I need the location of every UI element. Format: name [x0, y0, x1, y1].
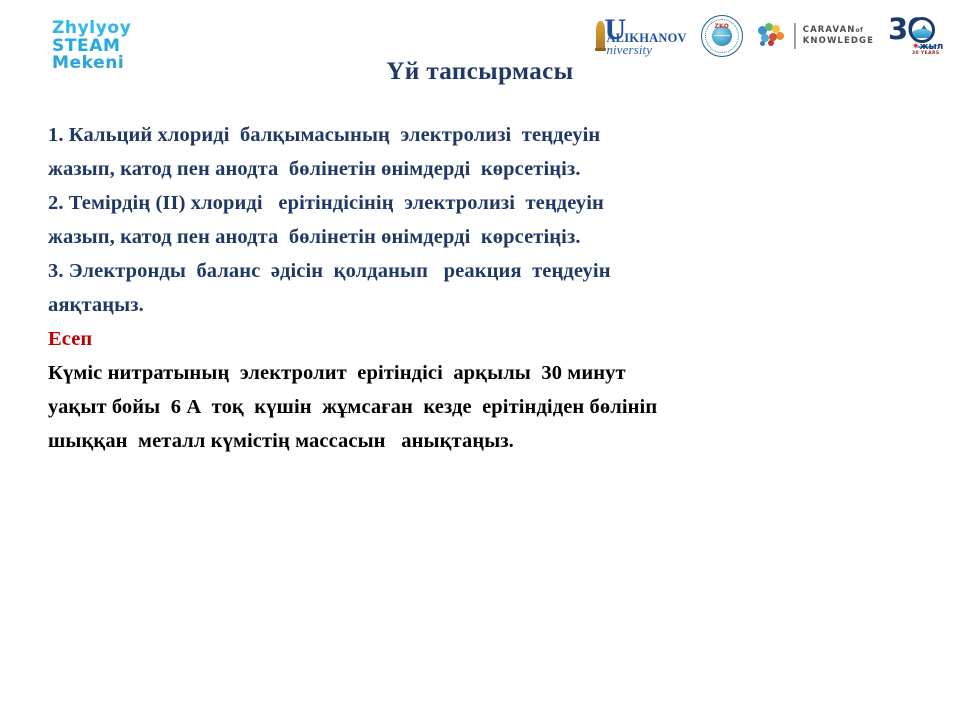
slide-canvas: Zhylyoy STEAM Mekeni U ALIKHANOV niversi…: [0, 0, 960, 720]
homework-body: 1. Кальций хлориді балқымасының электрол…: [48, 118, 916, 458]
university-initial: U: [604, 15, 626, 45]
problem-heading: Есеп: [48, 322, 916, 356]
wave-icon: [910, 29, 934, 38]
caravan-of: of: [856, 27, 864, 34]
task-1-line-1: 1. Кальций хлориді балқымасының электрол…: [48, 118, 916, 152]
vertical-divider: [794, 23, 796, 49]
partner-logo-cluster: U ALIKHANOV niversity ZKO: [596, 14, 948, 58]
university-wordmark: U ALIKHANOV niversity: [606, 16, 686, 57]
problem-line-1: Күміс нитратының электролит ерітіндісі а…: [48, 356, 916, 390]
page-title: Үй тапсырмасы: [0, 58, 960, 86]
ualikhanov-university-logo: U ALIKHANOV niversity: [596, 18, 686, 54]
caravan-of-knowledge-logo: CARAVANof KNOWLEDGE: [757, 19, 874, 53]
problem-line-2: уақыт бойы 6 А тоқ күшін жұмсаған кезде …: [48, 390, 916, 424]
task-2-line-1: 2. Темірдің (II) хлориді ерітіндісінің э…: [48, 186, 916, 220]
institute-seal-icon: ZKO: [701, 15, 743, 57]
task-1-line-2: жазып, катод пен анодта бөлінетін өнімде…: [48, 152, 916, 186]
problem-line-3: шыққан металл күмістің массасын анықтаңы…: [48, 424, 916, 458]
brain-icon: [757, 23, 787, 49]
caravan-line1: CARAVAN: [803, 25, 856, 35]
anniversary-sub-label: 30 YEARS: [912, 51, 940, 56]
task-3-line-1: 3. Электронды баланс әдісін қолданып реа…: [48, 254, 916, 288]
caravan-wordmark: CARAVANof KNOWLEDGE: [803, 25, 874, 47]
task-2-line-2: жазып, катод пен анодта бөлінетін өнімде…: [48, 220, 916, 254]
task-3-line-2: аяқтаңыз.: [48, 288, 916, 322]
caravan-line2: KNOWLEDGE: [803, 36, 874, 47]
logo-band: Zhylyoy STEAM Mekeni U ALIKHANOV niversi…: [0, 0, 960, 66]
anniversary-30-years-logo: 30 ✷жыл 30 YEARS: [888, 15, 948, 57]
seal-mark-label: ZKO: [714, 23, 729, 30]
